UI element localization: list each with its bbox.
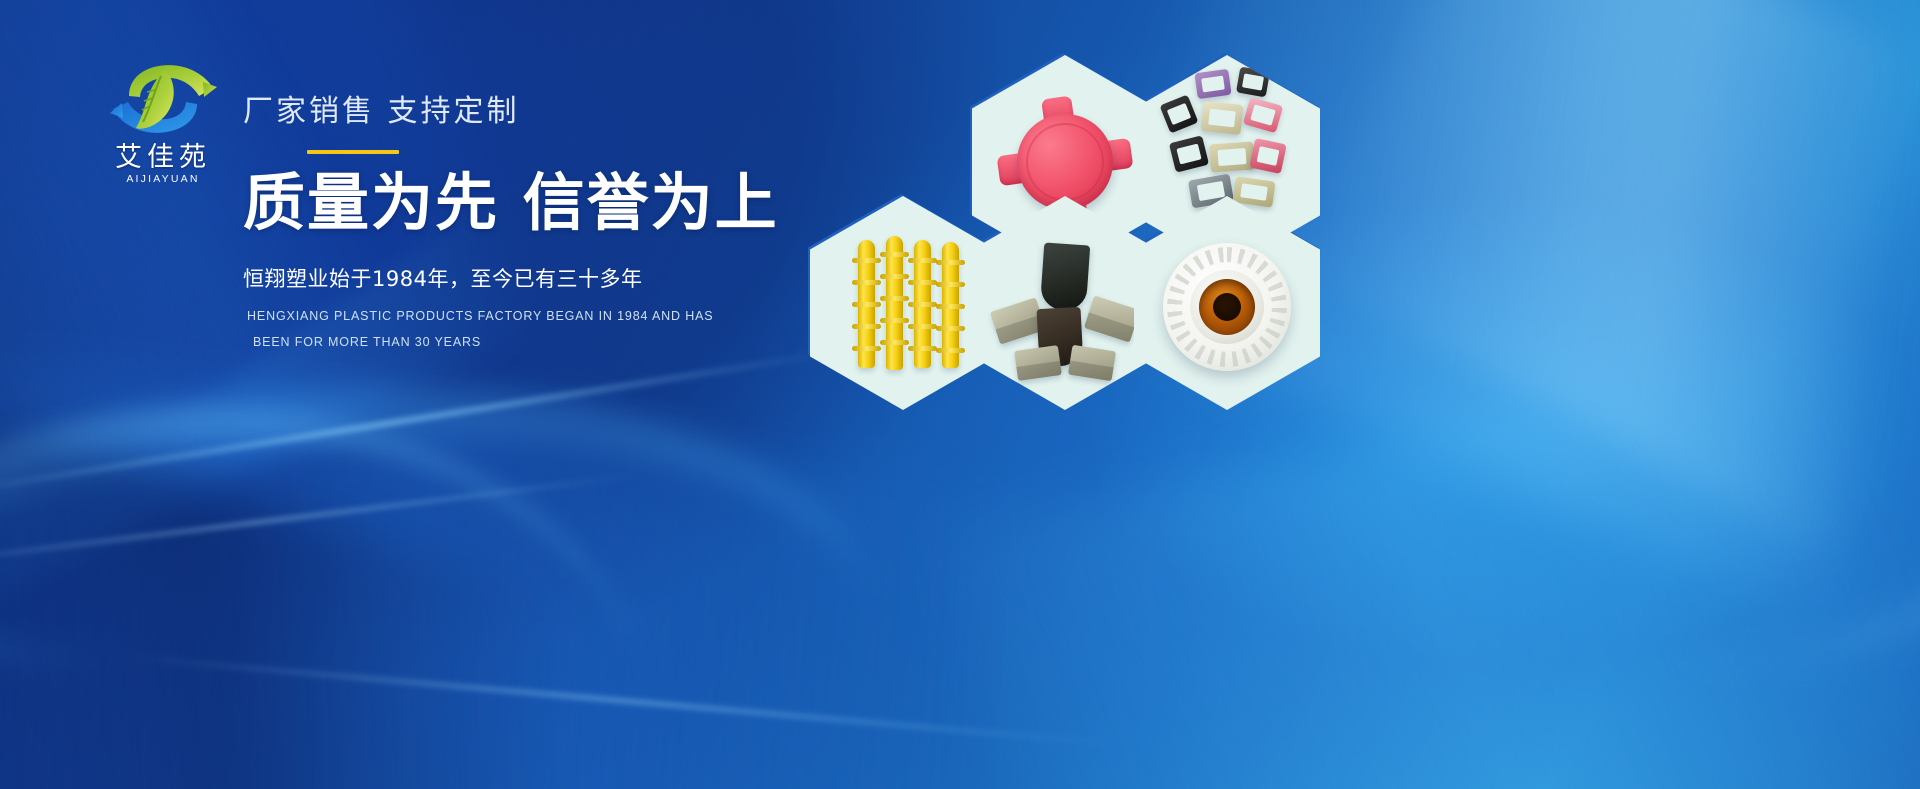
light-line-3 xyxy=(122,654,1119,746)
product-hexagon-gallery: 红色塑料接线盒 塑料插扣配件 xyxy=(800,40,1360,385)
light-arc-bottom-2 xyxy=(0,328,718,789)
hex-face xyxy=(810,196,996,410)
hero-copy: 厂家销售 支持定制 质量为先 信誉为上 恒翔塑业始于1984年，至今已有三十多年… xyxy=(243,86,863,356)
company-logo[interactable]: 艾佳苑 AIJIAYUAN xyxy=(88,56,238,184)
subtitle-en-block: HENGXIANG PLASTIC PRODUCTS FACTORY BEGAN… xyxy=(243,304,863,355)
hex-caption-2: 塑料插扣配件 xyxy=(1132,53,1133,54)
light-line-1 xyxy=(0,350,835,497)
logo-name-en: AIJIAYUAN xyxy=(88,173,238,185)
product-image-wall-anchors xyxy=(810,196,996,410)
light-arc-bottom-1 xyxy=(0,331,923,789)
eyebrow-text: 厂家销售 支持定制 xyxy=(243,86,863,130)
subtitle-en-line-2: BEEN FOR MORE THAN 30 YEARS xyxy=(247,330,863,356)
shadow-corner-bottom-left xyxy=(0,392,603,789)
subtitle-en-line-1: HENGXIANG PLASTIC PRODUCTS FACTORY BEGAN… xyxy=(247,304,863,330)
leaf-swirl-logo-icon xyxy=(103,56,223,142)
light-line-2 xyxy=(0,474,637,571)
light-streak-right-2 xyxy=(1284,0,1920,557)
logo-name-cn: 艾佳苑 xyxy=(88,144,238,172)
subtitle-cn: 恒翔塑业始于1984年，至今已有三十多年 xyxy=(243,263,863,293)
hex-caption-3: 黄色塑料膨胀管 xyxy=(808,194,809,195)
hex-caption-4: 灰黑色塑料夹片 xyxy=(970,194,971,195)
hero-banner: 艾佳苑 AIJIAYUAN 厂家销售 支持定制 质量为先 信誉为上 恒翔塑业始于… xyxy=(0,0,1920,789)
gold-divider xyxy=(307,150,399,154)
hex-caption-1: 红色塑料接线盒 xyxy=(970,53,971,54)
page-title: 质量为先 信誉为上 xyxy=(243,168,863,237)
